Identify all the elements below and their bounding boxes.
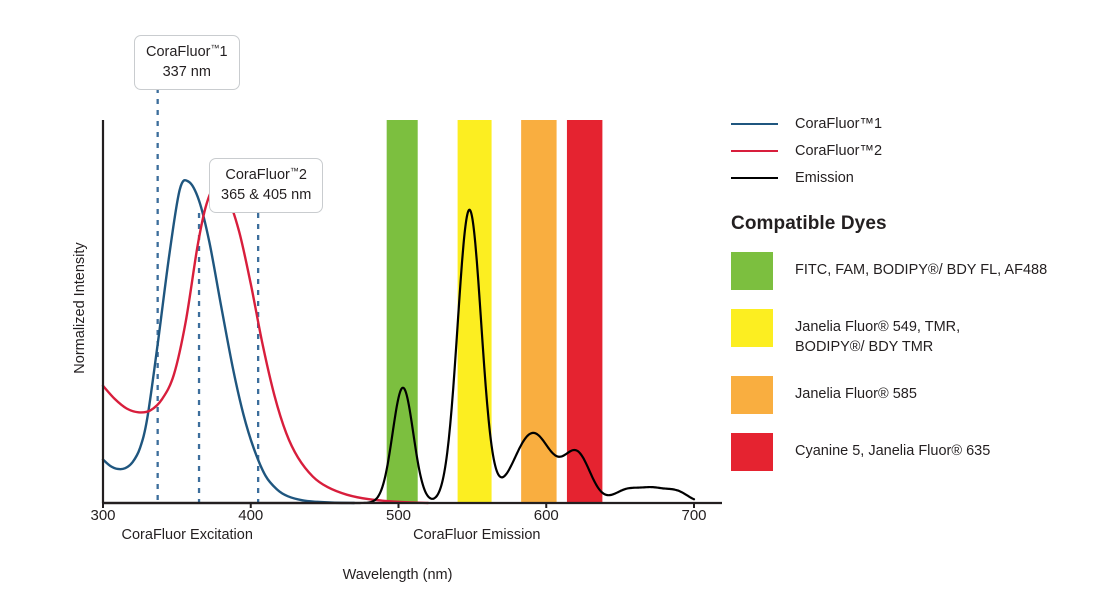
callout-corafluor-1: CoraFluor™1 337 nm	[134, 35, 240, 90]
excitation-marker-lines	[158, 88, 258, 503]
red-band	[567, 120, 602, 503]
legend-series-label: Emission	[795, 170, 854, 186]
dye-legend-row: Janelia Fluor® 585	[731, 376, 1101, 414]
dye-legend-label: Janelia Fluor® 549, TMR, BODIPY®/ BDY TM…	[795, 309, 960, 357]
callout-cf2-line2: 365 & 405 nm	[221, 186, 311, 206]
compatible-dyes-title: Compatible Dyes	[731, 213, 1101, 235]
legend-line-swatch	[731, 123, 778, 125]
compatible-dye-bands	[387, 120, 603, 503]
series-legend: CoraFluor™1CoraFluor™2Emission	[731, 110, 1101, 191]
legend-line-swatch	[731, 150, 778, 152]
dye-legend-row: Janelia Fluor® 549, TMR, BODIPY®/ BDY TM…	[731, 309, 1101, 357]
trademark-symbol: ™	[290, 166, 299, 176]
y-axis-title: Normalized Intensity	[72, 208, 88, 408]
curve-excitation-CoraFluor2	[103, 187, 428, 503]
dye-color-swatch	[731, 376, 773, 414]
x-tick-label-300: 300	[90, 507, 115, 524]
legend-line-swatch	[731, 177, 778, 179]
region-label-emission: CoraFluor Emission	[413, 527, 540, 543]
orange-band	[521, 120, 556, 503]
callout-cf2-line1: CoraFluor™2	[221, 165, 311, 186]
dye-legend-label: Cyanine 5, Janelia Fluor® 635	[795, 433, 990, 461]
curve-excitation-CoraFluor1	[103, 180, 354, 503]
x-tick-label-500: 500	[386, 507, 411, 524]
legend-series-row: CoraFluor™2	[731, 137, 1101, 164]
x-tick-label-600: 600	[534, 507, 559, 524]
legend-series-label: CoraFluor™2	[795, 143, 882, 159]
yellow-band	[458, 120, 492, 503]
legend-series-label: CoraFluor™1	[795, 116, 882, 132]
callout-corafluor-2: CoraFluor™2 365 & 405 nm	[209, 158, 323, 213]
dye-color-swatch	[731, 309, 773, 347]
dye-legend-row: Cyanine 5, Janelia Fluor® 635	[731, 433, 1101, 471]
region-label-excitation: CoraFluor Excitation	[122, 527, 253, 543]
legend-series-row: Emission	[731, 164, 1101, 191]
legend-series-row: CoraFluor™1	[731, 110, 1101, 137]
dye-legend-row: FITC, FAM, BODIPY®/ BDY FL, AF488	[731, 252, 1101, 290]
spectral-chart-figure: CoraFluor™1 337 nm CoraFluor™2 365 & 405…	[0, 0, 1110, 612]
dye-color-swatch	[731, 433, 773, 471]
dye-legend-label: FITC, FAM, BODIPY®/ BDY FL, AF488	[795, 252, 1047, 280]
callout-cf1-line1: CoraFluor™1	[146, 42, 228, 63]
x-tick-label-700: 700	[681, 507, 706, 524]
legend-panel: CoraFluor™1CoraFluor™2Emission Compatibl…	[731, 110, 1101, 490]
dye-legend-label: Janelia Fluor® 585	[795, 376, 917, 404]
dye-color-swatch	[731, 252, 773, 290]
x-axis-title: Wavelength (nm)	[0, 567, 795, 583]
compatible-dyes-list: FITC, FAM, BODIPY®/ BDY FL, AF488Janelia…	[731, 252, 1101, 471]
callout-cf1-line2: 337 nm	[146, 63, 228, 83]
x-tick-label-400: 400	[238, 507, 263, 524]
